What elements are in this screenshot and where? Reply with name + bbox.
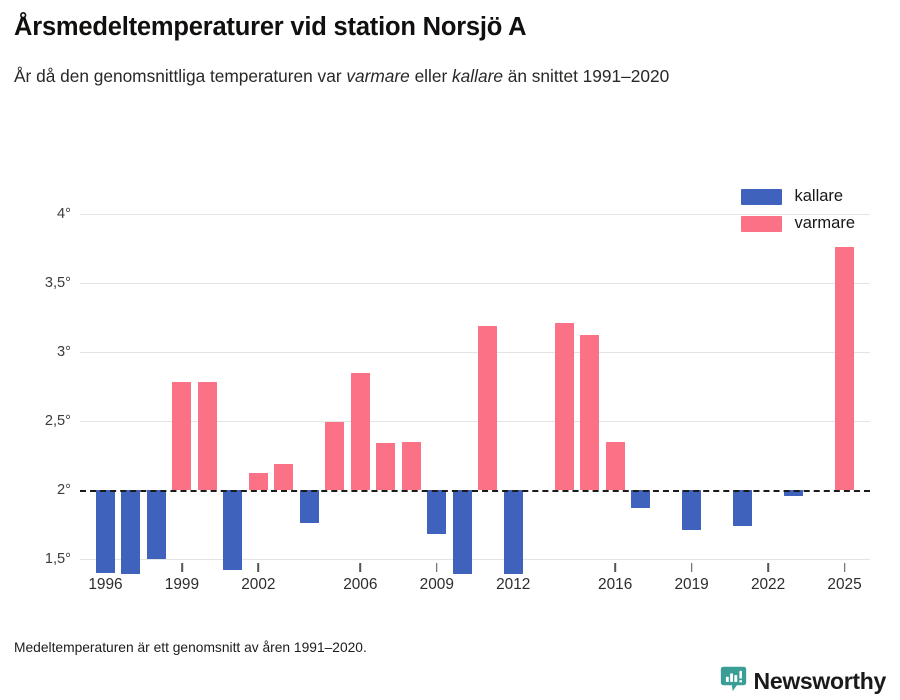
bar-2008[interactable]: [402, 442, 421, 490]
subtitle-run-3: kallare: [452, 66, 503, 86]
subtitle-run-1: varmare: [346, 66, 409, 86]
subtitle-run-2: eller: [410, 66, 452, 86]
chart-legend: kallarevarmare: [741, 187, 855, 233]
subtitle-run-4: än snittet 1991–2020: [503, 66, 669, 86]
bar-1999[interactable]: [172, 382, 191, 490]
bar-2002[interactable]: [249, 473, 268, 490]
bar-2015[interactable]: [580, 335, 599, 490]
legend-item-varmare[interactable]: varmare: [741, 214, 855, 233]
bar-2005[interactable]: [325, 422, 344, 490]
chart-page: Årsmedeltemperaturer vid station Norsjö …: [0, 0, 900, 700]
bar-2007[interactable]: [376, 443, 395, 490]
legend-swatch-icon: [741, 189, 782, 205]
bar-2019[interactable]: [682, 490, 701, 530]
bar-2011[interactable]: [478, 326, 497, 490]
bar-2016[interactable]: [606, 442, 625, 490]
bar-2010[interactable]: [453, 490, 472, 574]
bar-2009[interactable]: [427, 490, 446, 534]
chart-plot-area: kallarevarmare 1,5°2°2,5°3°3,5°4° 199619…: [0, 170, 900, 620]
bar-2014[interactable]: [555, 323, 574, 490]
newsworthy-brand: Newsworthy: [720, 665, 886, 697]
bar-1996[interactable]: [96, 490, 115, 573]
newsworthy-bubble-chart-icon: [720, 665, 747, 697]
bar-2017[interactable]: [631, 490, 650, 508]
chart-footnote: Medeltemperaturen är ett genomsnitt av å…: [14, 640, 367, 655]
bar-2012[interactable]: [504, 490, 523, 574]
bar-2025[interactable]: [835, 247, 854, 490]
page-title: Årsmedeltemperaturer vid station Norsjö …: [14, 0, 886, 42]
legend-swatch-icon: [741, 216, 782, 232]
legend-label: kallare: [794, 187, 843, 206]
bar-1998[interactable]: [147, 490, 166, 559]
bar-2021[interactable]: [733, 490, 752, 526]
bar-2001[interactable]: [223, 490, 242, 570]
bar-1997[interactable]: [121, 490, 140, 574]
brand-name: Newsworthy: [754, 668, 886, 695]
legend-item-kallare[interactable]: kallare: [741, 187, 855, 206]
legend-label: varmare: [794, 214, 855, 233]
bar-2006[interactable]: [351, 373, 370, 490]
chart-subtitle: År då den genomsnittliga temperaturen va…: [14, 42, 854, 90]
chart-bars: [0, 170, 900, 620]
bar-2000[interactable]: [198, 382, 217, 490]
baseline-average-line: [80, 490, 870, 492]
bar-2004[interactable]: [300, 490, 319, 523]
subtitle-run-0: År då den genomsnittliga temperaturen va…: [14, 66, 346, 86]
bar-2003[interactable]: [274, 464, 293, 490]
